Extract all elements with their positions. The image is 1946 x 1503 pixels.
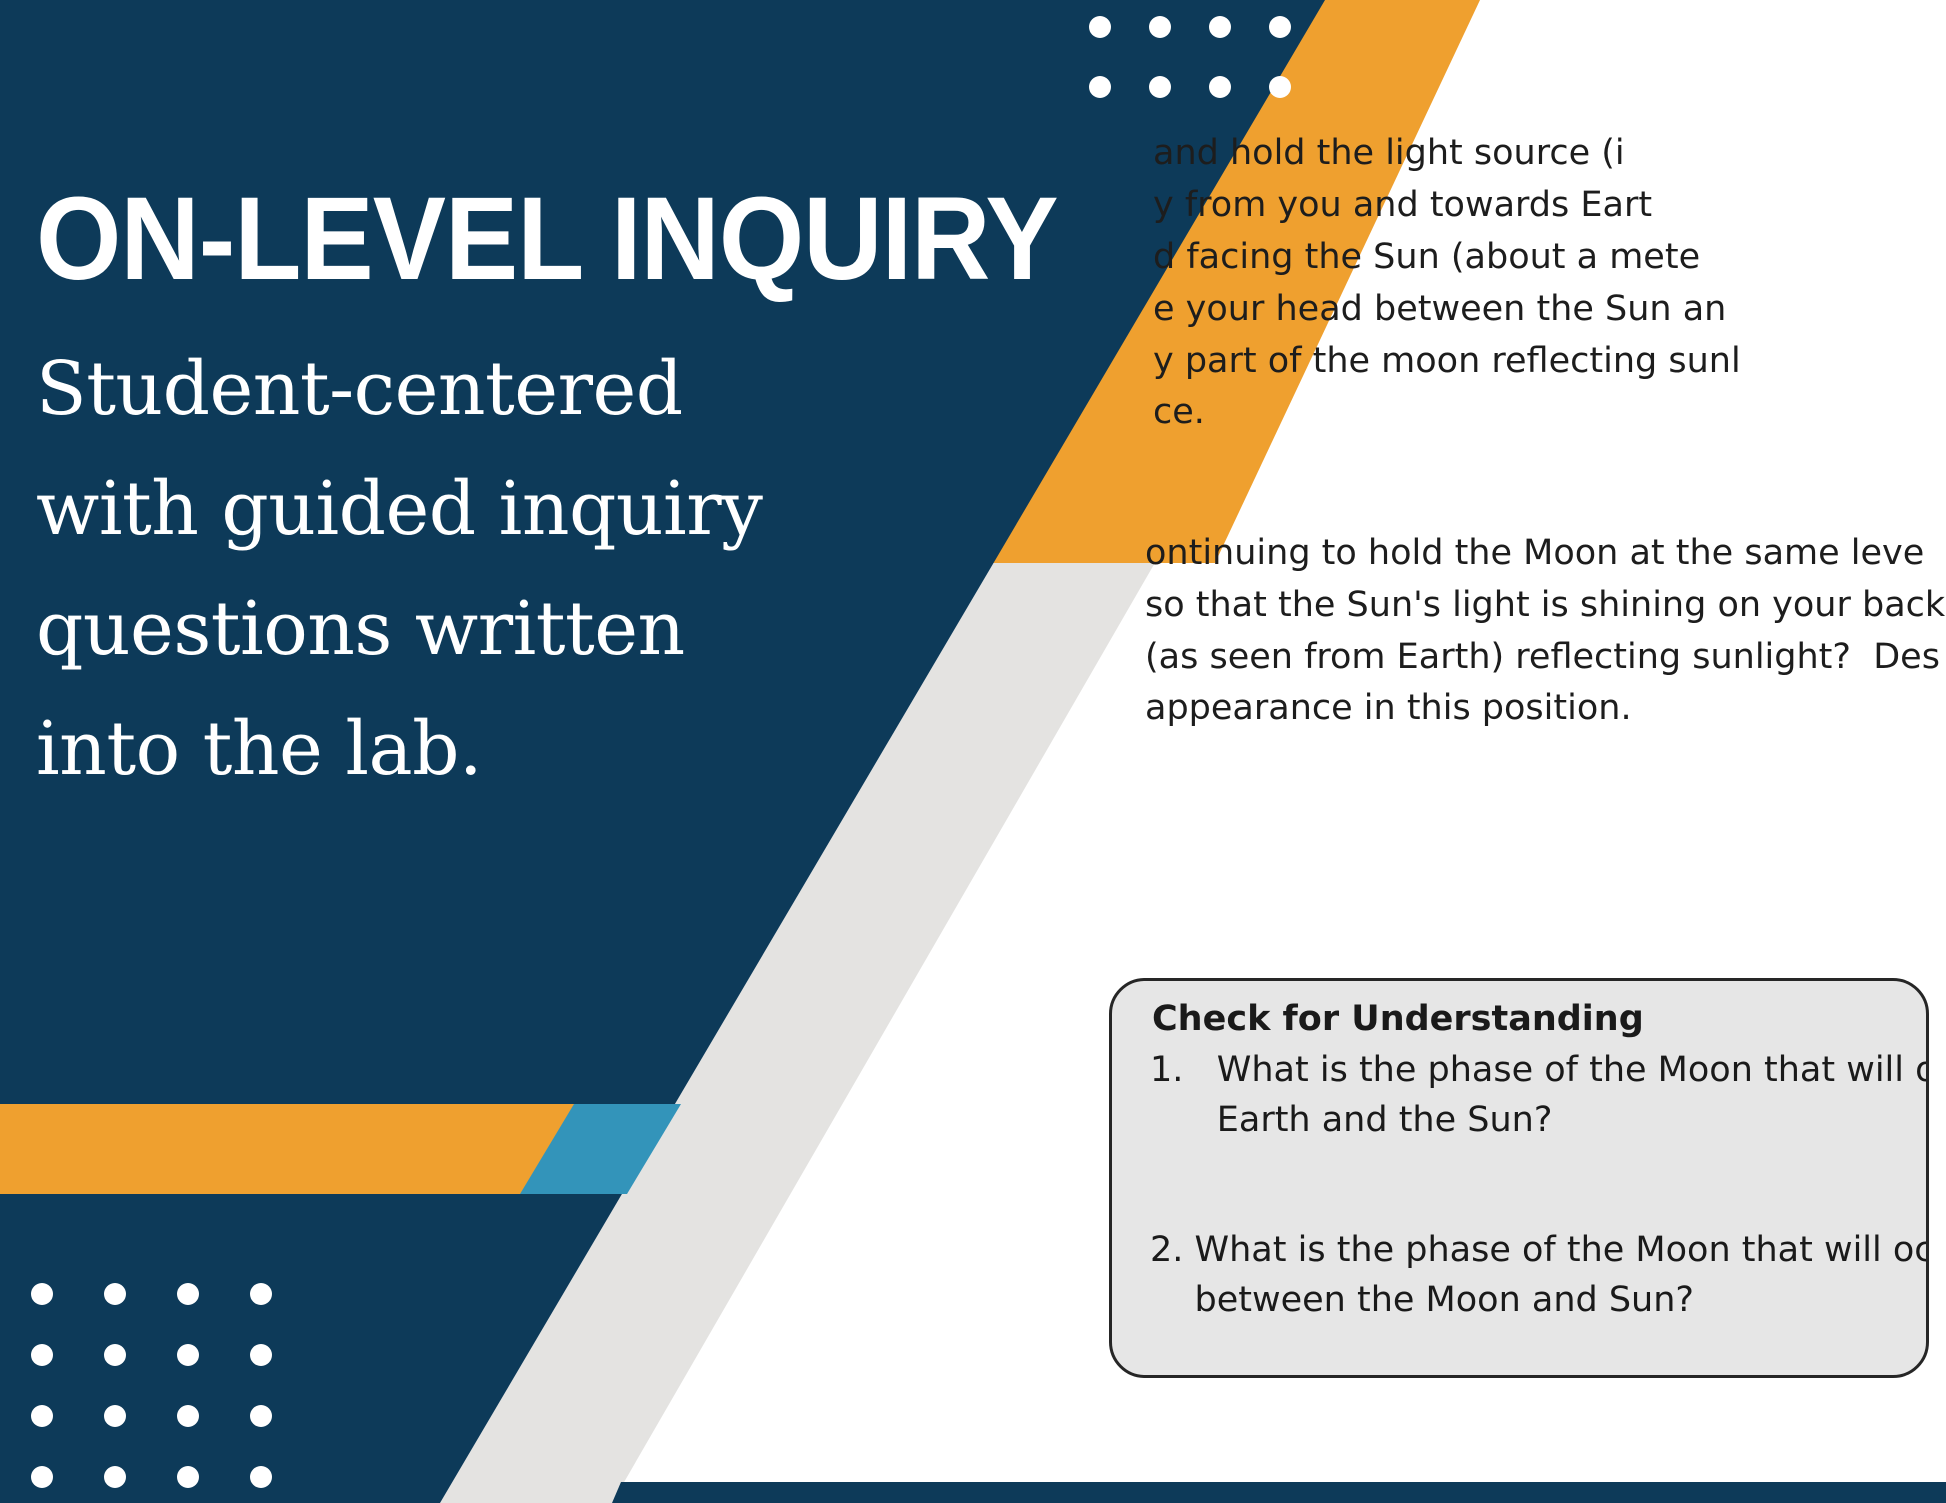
dot [1149,76,1171,98]
dot [104,1466,126,1488]
dot-grid-top-right [1089,16,1329,136]
dot [177,1283,199,1305]
dot-grid-bottom-left [31,1283,323,1503]
dot [31,1283,53,1305]
dot [104,1344,126,1366]
dot [1149,16,1171,38]
slide-headline: ON-LEVEL INQUIRY [36,180,1208,298]
dot [1089,76,1111,98]
dot [1269,76,1291,98]
dot [31,1466,53,1488]
slide-subheadline: Student-centered with guided inquiry que… [36,330,846,810]
dot [1209,76,1231,98]
orange-accent-bar [0,1104,589,1194]
dot [250,1466,272,1488]
dot [177,1405,199,1427]
navy-bottom-strip [612,1482,1946,1503]
dot [31,1344,53,1366]
dot [250,1405,272,1427]
dot [1089,16,1111,38]
slide-canvas: and hold the light source (i y from you … [0,0,1946,1503]
dot [250,1344,272,1366]
dot [1209,16,1231,38]
dot [31,1405,53,1427]
dot [177,1466,199,1488]
dot [104,1283,126,1305]
dot [1269,16,1291,38]
dot [104,1405,126,1427]
dot [250,1283,272,1305]
dot [177,1344,199,1366]
